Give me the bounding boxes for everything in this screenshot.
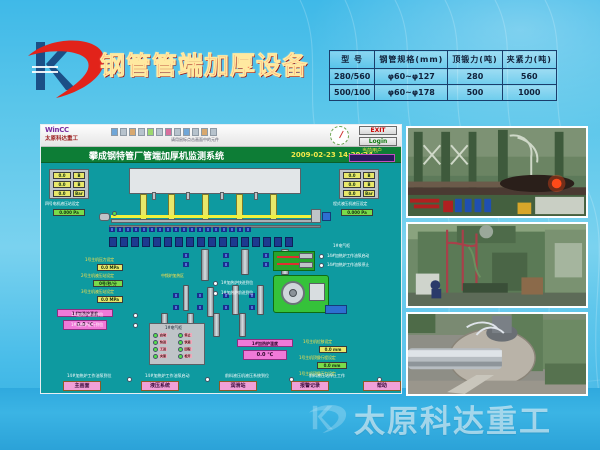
cabinet-light-row: 快退 (178, 339, 202, 345)
conveyor-pipe (111, 215, 311, 218)
right-readout-unit-2: Bar (363, 190, 375, 197)
help-icon[interactable] (210, 128, 217, 136)
valve-icon (205, 227, 211, 232)
valve-icon (173, 293, 179, 298)
right-readout-2: 0.0 (343, 190, 361, 197)
hydraulic-cylinder (257, 285, 264, 315)
bottom-note-1: 14#加热炉工作油泵启动 (145, 373, 189, 379)
pedestal (131, 237, 139, 247)
current-user-label: 当前用户 (349, 147, 395, 154)
right-readout-value-1: 0.0 mm (317, 362, 347, 369)
right-readout-value-0: 0.0 mm (319, 346, 347, 353)
stop-icon[interactable] (192, 128, 199, 136)
run-icon[interactable] (183, 128, 190, 136)
cabinet-light-row: 停止 (178, 332, 202, 338)
furnace-hanger (254, 192, 258, 200)
hydraulic-cylinder (241, 249, 249, 275)
upsetting-machine-hub (289, 289, 297, 297)
nav-button-alarm[interactable]: 报警记录 (291, 381, 329, 391)
hydraulic-cylinder (213, 313, 220, 337)
clamp-section-label: 1#电气柜 (333, 243, 350, 249)
status-light (213, 281, 218, 286)
spec-cell-upset: 500 (448, 85, 502, 101)
grid-icon[interactable] (174, 128, 181, 136)
left-panel-caption: 四号电机液压站设定 (45, 201, 79, 207)
spec-header-size: 钢管规格(mm) (375, 51, 448, 69)
bottom-note-light (205, 377, 210, 382)
valve-icon (197, 293, 203, 298)
pedestal (263, 237, 271, 247)
roller-table (111, 219, 317, 223)
right-readout-unit-1: B (363, 181, 375, 188)
motor-value-1: 0号/秒/分 (93, 280, 123, 287)
wincc-logo-subtext: 太原科达重工 (45, 135, 103, 144)
exit-button[interactable]: EXIT (359, 126, 397, 135)
clamp-status-light (319, 263, 324, 268)
nav-button-hydraulic[interactable]: 液压系统 (141, 381, 179, 391)
pedestal (274, 237, 282, 247)
pedestal (109, 237, 117, 247)
spec-cell-size: φ60~φ178 (375, 85, 448, 101)
status-label-2: 1#加热炉快进到位 (221, 280, 253, 286)
background-bottom-band (0, 388, 600, 450)
valve-icon (133, 227, 139, 232)
status-label-3: 1#加热炉前进到位 (221, 290, 253, 296)
table-row: 500/100 φ60~φ178 500 1000 (330, 85, 557, 101)
valve-icon (183, 262, 189, 267)
furnace-hanger (152, 192, 156, 200)
cabinet-light-row: 回程 (178, 346, 202, 352)
hmi-title: 攀成钢特管厂管端加厚机监测系统 (89, 149, 224, 162)
settings-icon[interactable] (201, 128, 208, 136)
pedestal (142, 237, 150, 247)
hmi-toolbar-icons[interactable] (111, 128, 217, 136)
pedestal (175, 237, 183, 247)
valve-icon (221, 227, 227, 232)
valve-icon (141, 227, 147, 232)
clamp-indicator (277, 263, 299, 265)
drive-gearbox (322, 212, 331, 221)
right-readout-label-1: 1号主机顶锻行程设定 (299, 355, 336, 361)
motor-value-2: 0.0 MPa (97, 296, 123, 303)
hmi-panel: WinCC 太原科达重工 请用鼠标点击画面中的元件 EXIT Login 攀成钢… (40, 124, 402, 394)
hmi-toolbar: WinCC 太原科达重工 请用鼠标点击画面中的元件 EXIT Login (41, 125, 401, 147)
spec-cell-size: φ60~φ127 (375, 69, 448, 85)
valve-icon (223, 253, 229, 258)
drive-motor (99, 213, 110, 221)
clamp-cylinder (299, 253, 313, 259)
motor-label-2: 3号主机液压站设定 (81, 289, 114, 295)
photo-machine (406, 222, 588, 308)
status-light (133, 313, 138, 318)
status-light (213, 291, 218, 296)
pedestal (230, 237, 238, 247)
valve-icon (213, 227, 219, 232)
right-panel-readout: 0.000 Pa (341, 209, 373, 216)
drive-motor (311, 209, 321, 223)
left-readout-unit-1: B (73, 181, 85, 188)
furnace-hood (129, 168, 301, 194)
valve-bank (109, 227, 321, 235)
furnace-hanger (220, 192, 224, 200)
copy-icon[interactable] (129, 128, 136, 136)
valve-icon (149, 227, 155, 232)
upsetting-machine-die (309, 283, 325, 301)
valve-icon (183, 253, 189, 258)
spec-cell-model: 500/100 (330, 85, 375, 101)
status-label-4: 14#加热炉工作油泵启动 (327, 253, 369, 259)
left-readout-unit-0: B (73, 172, 85, 179)
pedestal (219, 237, 227, 247)
valve-icon (173, 305, 179, 310)
left-readout-2: 0.0 (53, 190, 71, 197)
control-cabinet-caption: 1#电气柜 (165, 325, 182, 331)
valve-icon (197, 305, 203, 310)
pedestal (241, 237, 249, 247)
valve-icon (157, 227, 163, 232)
undo-icon[interactable] (147, 128, 154, 136)
pedestal (197, 237, 205, 247)
current-user-field[interactable] (349, 154, 395, 162)
valve-icon (263, 253, 269, 258)
print-icon[interactable] (120, 128, 127, 136)
pedestal (186, 237, 194, 247)
save-icon[interactable] (111, 128, 118, 136)
company-logo-icon (22, 36, 108, 98)
cut-icon[interactable] (138, 128, 145, 136)
hydraulic-cylinder (239, 313, 246, 337)
wincc-logo: WinCC 太原科达重工 (45, 126, 103, 146)
left-readout-0: 0.0 (53, 172, 71, 179)
valve-icon (245, 227, 251, 232)
right-readout-label-0: 1号主机位移设定 (303, 339, 332, 345)
valve-icon (223, 262, 229, 267)
spec-cell-clamp: 560 (502, 69, 556, 85)
valve-icon (125, 227, 131, 232)
clamp-indicator (277, 256, 299, 258)
motor-label-1: 2号主机液压站设定 (81, 273, 114, 279)
gauge-icon (330, 126, 349, 145)
valve-icon (237, 227, 243, 232)
spec-header-upset: 顶锻力(吨) (448, 51, 502, 69)
valve-icon (189, 227, 195, 232)
cabinet-light-row: 夹紧 (153, 353, 177, 359)
hydraulic-cylinder (183, 285, 189, 311)
bottom-note-2: 前料液压机液压系统到位 (225, 373, 269, 379)
clamp-cylinder (299, 262, 313, 268)
valve-icon (263, 262, 269, 267)
cabinet-light-row: 工进 (153, 346, 177, 352)
right-panel-caption: 程式液压机液压设定 (333, 201, 367, 207)
machine-temp-caption: 1#加热炉温度 (237, 339, 293, 347)
valve-icon (165, 227, 171, 232)
cabinet-light-row: 启动 (153, 332, 177, 338)
nav-button-main[interactable]: 主画面 (63, 381, 101, 391)
pedestal-row (109, 237, 321, 247)
pedestal (208, 237, 216, 247)
table-row: 280/560 φ60~φ127 280 560 (330, 69, 557, 85)
valve-icon (181, 227, 187, 232)
bottom-note-3: 前料液压站停止工作 (309, 373, 345, 379)
cabinet-light-grid: 启动 停止 快进 快退 工进 回程 夹紧 松开 (153, 332, 201, 362)
left-readout-unit-2: Bar (73, 190, 85, 197)
spec-cell-upset: 280 (448, 69, 502, 85)
spec-table: 型 号 钢管规格(mm) 顶锻力(吨) 夹紧力(吨) 280/560 φ60~φ… (329, 50, 557, 101)
motor-value-0: 0.0 MPa (97, 264, 123, 271)
hmi-toolbar-note: 请用鼠标点击画面中的元件 (171, 137, 219, 143)
valve-icon (109, 227, 115, 232)
pedestal (120, 237, 128, 247)
spec-header-model: 型 号 (330, 51, 375, 69)
valve-icon (229, 227, 235, 232)
spec-header-clamp: 夹紧力(吨) (502, 51, 556, 69)
valve-icon (173, 227, 179, 232)
status-label-1: 1#加热炉运行到位 (71, 322, 103, 328)
left-readout-1: 0.0 (53, 181, 71, 188)
pedestal (153, 237, 161, 247)
valve-icon (197, 227, 203, 232)
bottom-note-0: 14#加热炉工作油泵到位 (67, 373, 111, 379)
photo-factory-line (406, 126, 588, 218)
right-readout-1: 0.0 (343, 181, 361, 188)
machine-temp-value: 0.0 ℃ (243, 350, 287, 360)
page-header: 钢管管端加厚设备 (18, 36, 318, 98)
furnace-hanger (186, 192, 190, 200)
status-light (133, 323, 138, 328)
hmi-mimic-diagram: 0.0 B 0.0 B 0.0 Bar 四号电机液压站设定 0.000 Pa 0… (41, 163, 401, 394)
valve-icon (249, 305, 255, 310)
valve-icon (223, 305, 229, 310)
status-label-5: 14#加热炉工作油泵停止 (327, 262, 369, 268)
spec-cell-model: 280/560 (330, 69, 375, 85)
nav-button-help[interactable]: 帮助 (363, 381, 401, 391)
discharge-chute (325, 305, 347, 314)
center-caption: 中频炉加热区 (161, 273, 184, 279)
valve-icon (117, 227, 123, 232)
right-readout-unit-0: B (363, 172, 375, 179)
spec-table-header-row: 型 号 钢管规格(mm) 顶锻力(吨) 夹紧力(吨) (330, 51, 557, 69)
clamp-status-light (319, 254, 324, 259)
hydraulic-cylinder (201, 249, 209, 281)
zoom-icon[interactable] (165, 128, 172, 136)
right-readout-0: 0.0 (343, 172, 361, 179)
hmi-title-bar: 攀成钢特管厂管端加厚机监测系统 2009-02-23 14:29:24 当前用户 (41, 147, 401, 163)
pedestal (164, 237, 172, 247)
pedestal (285, 237, 293, 247)
photo-pipe-closeup (406, 312, 588, 396)
pedestal (252, 237, 260, 247)
drive-motor-light (112, 211, 117, 216)
left-panel-readout: 0.000 Pa (53, 209, 85, 216)
bottom-note-light (127, 377, 132, 382)
page-title: 钢管管端加厚设备 (100, 46, 308, 82)
cabinet-light-row: 快进 (153, 339, 177, 345)
nav-button-lube[interactable]: 润滑站 (219, 381, 257, 391)
redo-icon[interactable] (156, 128, 163, 136)
wincc-logo-text: WinCC (45, 126, 103, 135)
spec-cell-clamp: 1000 (502, 85, 556, 101)
login-button[interactable]: Login (359, 137, 397, 146)
motor-label-0: 1号主机压力设定 (85, 257, 114, 263)
status-label-0: 1#加热炉进退到位 (71, 312, 103, 318)
cabinet-light-row: 松开 (178, 353, 202, 359)
